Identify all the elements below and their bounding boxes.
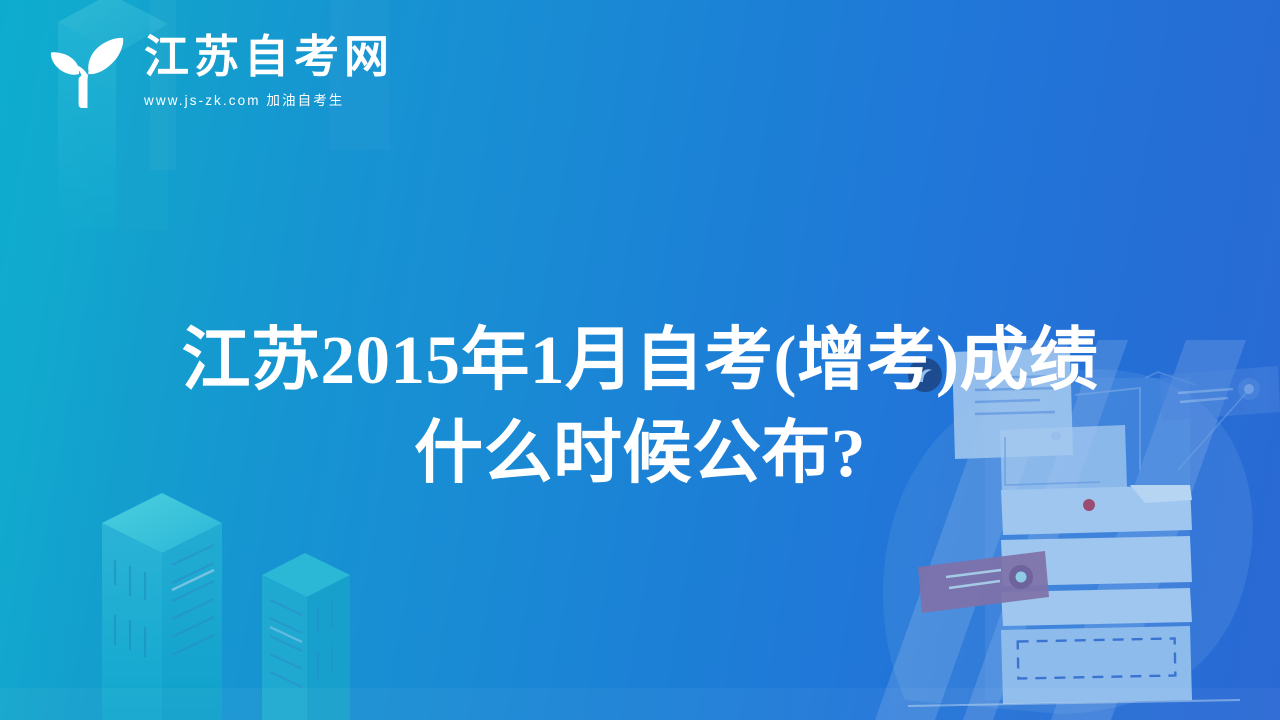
dashed-border bbox=[1018, 638, 1176, 678]
sprout-icon bbox=[34, 22, 130, 118]
short-tower-right bbox=[262, 553, 350, 720]
illustration-bars bbox=[1001, 485, 1192, 626]
tall-tower-left bbox=[102, 493, 222, 720]
page-title: 江苏2015年1月自考(增考)成绩什么时候公布? bbox=[0, 314, 1280, 499]
illustration-panel-bottom bbox=[1001, 626, 1192, 704]
site-logo[interactable]: 江苏自考网 www.js-zk.com 加油自考生 bbox=[34, 22, 394, 118]
brand-tagline: www.js-zk.com 加油自考生 bbox=[144, 89, 394, 109]
brand-name: 江苏自考网 bbox=[144, 31, 394, 82]
tag-purple-card bbox=[918, 551, 1049, 613]
promo-banner: 江苏自考网 www.js-zk.com 加油自考生 江苏2015年1月自考(增考… bbox=[0, 0, 1280, 720]
